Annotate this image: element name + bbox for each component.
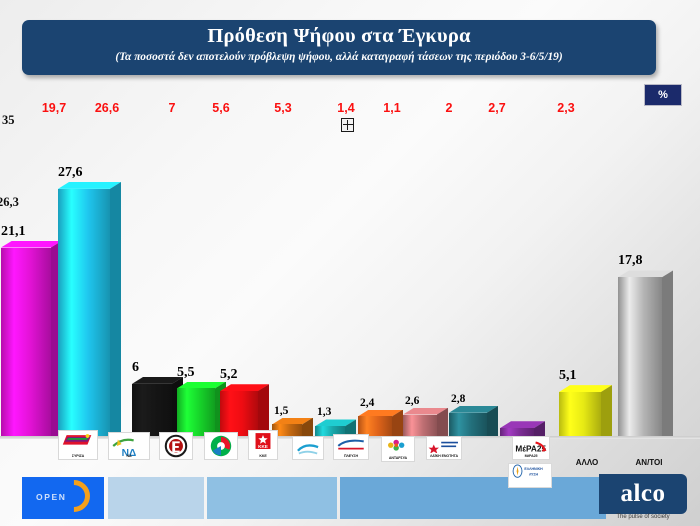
- bar-value-label: 21,1: [1, 224, 26, 240]
- footer-segment-1: [108, 477, 204, 519]
- footer-segment-2: [207, 477, 337, 519]
- bar-side-face: [110, 182, 121, 438]
- previous-result-value: 5,6: [212, 101, 229, 115]
- bar-value-label: 6: [132, 360, 139, 376]
- bar-value-label: 5,1: [559, 368, 577, 384]
- chrysi-avgi-logo: [159, 432, 193, 460]
- kke-logo: ΚΚΕΚΚΕ: [248, 430, 278, 460]
- antarsya-logo: ΑΝΤΑΡΣΥΑ: [381, 436, 415, 462]
- bar-value-label: 27,6: [58, 165, 83, 181]
- previous-result-value: 1,4: [337, 101, 354, 115]
- previous-result-value: 1,1: [383, 101, 400, 115]
- bar-front-face: [1, 248, 51, 439]
- svg-text:ΛΥΣΗ: ΛΥΣΗ: [529, 473, 539, 477]
- enosi-kentroon-logo: [292, 436, 324, 460]
- bar-top-face: [58, 182, 121, 189]
- bar-value-label: 2,8: [451, 393, 465, 405]
- bar-front-face: [132, 384, 172, 438]
- elliniki-lysi-emblem: ΕΛΛΗΝΙΚΗΛΥΣΗ: [509, 464, 551, 478]
- bar-chart-plot-area: 21,127,665,55,21,51,32,42,62,85,117,8: [0, 120, 700, 438]
- svg-text:ΕΛΛΗΝΙΚΗ: ΕΛΛΗΝΙΚΗ: [524, 467, 543, 471]
- logo-caption: ΚΚΕ: [249, 454, 277, 458]
- bar-13[interactable]: [618, 271, 673, 438]
- bar-value-label: 17,8: [618, 253, 643, 269]
- bar-front-face: [559, 392, 601, 438]
- previous-result-value: 2,7: [488, 101, 505, 115]
- bar-value-label: 1,5: [274, 405, 288, 417]
- bar-side-face: [601, 385, 612, 438]
- plefsi-eleftherias-logo: ΠΛΕΥΣΗ: [333, 434, 369, 460]
- alco-logo: alco: [599, 474, 687, 514]
- logo-caption: ΑΝΤΑΡΣΥΑ: [382, 456, 414, 460]
- logo-caption: ΣΥΡΙΖΑ: [59, 454, 97, 458]
- bar-side-face: [662, 270, 673, 438]
- kinal-logo: [204, 432, 238, 460]
- bar-front-face: [449, 413, 487, 438]
- bar-2[interactable]: [58, 183, 121, 438]
- laiki-enotita-logo: ΛΑΪΚΗ ΕΝΟΤΗΤΑ: [426, 436, 462, 460]
- bar-front-face: [618, 277, 662, 438]
- previous-result-value: 2,3: [557, 101, 574, 115]
- open-tv-logo: OPEN: [22, 477, 104, 519]
- bar-front-face: [403, 415, 437, 438]
- mera25-logo: ΜέΡΑ25ΜέΡΑ25: [512, 436, 550, 460]
- elliniki-lysi-logo: ΕΛΛΗΝΙΚΗΛΥΣΗ: [508, 463, 552, 488]
- open-wordmark: OPEN: [36, 492, 67, 502]
- bar-value-label: 2,6: [405, 395, 419, 407]
- bar-value-label: 5,2: [220, 367, 238, 383]
- logo-caption: ΜέΡΑ25: [513, 454, 549, 458]
- bar-12[interactable]: [559, 386, 612, 438]
- alco-tagline: The pulse of society: [599, 514, 687, 520]
- previous-result-value: 7: [169, 101, 176, 115]
- previous-result-value: 2: [446, 101, 453, 115]
- bar-front-face: [177, 388, 215, 438]
- logo-caption: ΠΛΕΥΣΗ: [334, 454, 368, 458]
- bar-value-label: 1,3: [317, 406, 331, 418]
- bar-1[interactable]: [1, 241, 62, 438]
- logo-caption: ΛΑΪΚΗ ΕΝΟΤΗΤΑ: [427, 454, 461, 458]
- page-subtitle: (Τα ποσοστά δεν αποτελούν πρόβλεψη ψήφου…: [22, 50, 656, 65]
- svg-text:ΚΚΕ: ΚΚΕ: [258, 444, 268, 449]
- page-title: Πρόθεση Ψήφου στα Έγκυρα: [22, 24, 656, 49]
- bar-value-label: 2,4: [360, 397, 374, 409]
- slide-canvas: Πρόθεση Ψήφου στα Έγκυρα (Τα ποσοστά δεν…: [0, 0, 700, 526]
- previous-result-value: 26,6: [95, 101, 119, 115]
- bar-3[interactable]: [132, 378, 183, 438]
- previous-result-value: 19,7: [42, 101, 66, 115]
- footer-segment-3: [340, 477, 606, 519]
- percent-axis-badge: %: [644, 84, 682, 106]
- title-banner: Πρόθεση Ψήφου στα Έγκυρα (Τα ποσοστά δεν…: [22, 20, 656, 75]
- bar-value-label: 5,5: [177, 365, 195, 381]
- bar-front-face: [58, 189, 110, 438]
- syriza-logo: ΣΥΡΙΖΑ: [58, 430, 98, 460]
- bar-9[interactable]: [403, 408, 448, 438]
- nd-logo: ΝΔΝΔ: [108, 432, 150, 460]
- bar-4[interactable]: [177, 382, 226, 438]
- footer-band: OPEN alco The pulse of society: [0, 466, 700, 526]
- previous-result-value: 5,3: [274, 101, 291, 115]
- logo-caption: ΝΔ: [109, 454, 149, 458]
- bar-10[interactable]: [449, 407, 498, 438]
